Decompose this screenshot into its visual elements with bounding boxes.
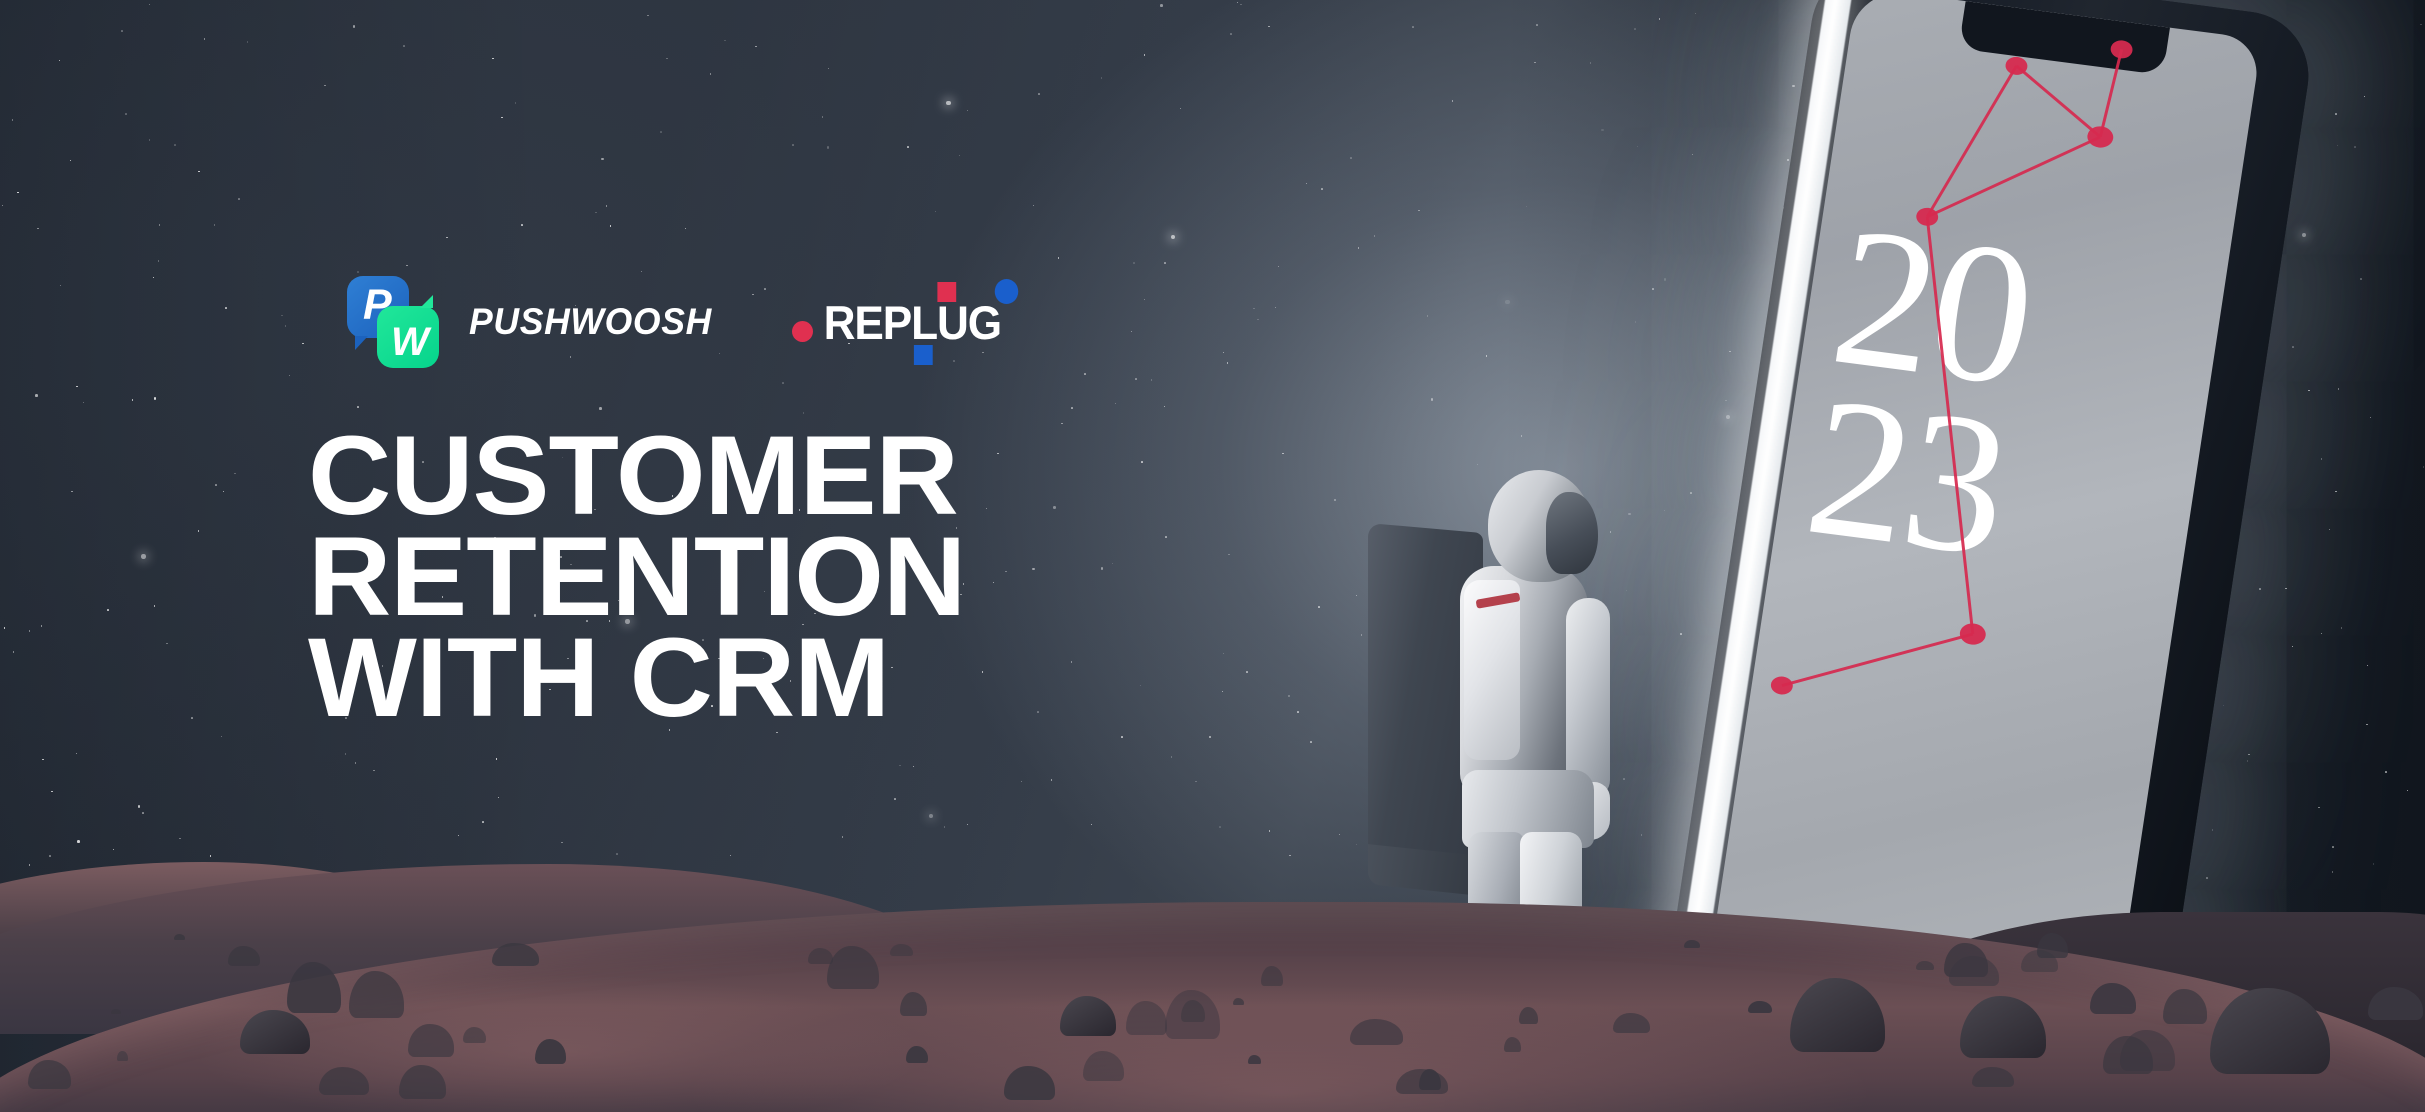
headline-line-2: RETENTION: [308, 527, 1194, 628]
logo-row: P W PUSHWOOSH REPLUG: [347, 276, 1007, 368]
astronaut-visor: [1546, 492, 1598, 574]
replug-wordmark-text: REPLUG: [824, 296, 1001, 349]
astronaut-arm: [1566, 598, 1610, 798]
page-title: CUSTOMER RETENTION WITH CRM: [308, 426, 1168, 728]
headline-line-1: CUSTOMER: [308, 426, 1194, 527]
bubble-letter-w: W: [391, 322, 429, 362]
headline-line-3: WITH CRM: [308, 628, 1194, 729]
pushwoosh-wordmark: PUSHWOOSH: [469, 301, 712, 343]
replug-blue-circle-icon: [995, 279, 1019, 304]
replug-dot-icon: [792, 321, 813, 342]
replug-red-square-icon: [937, 282, 956, 302]
replug-wordmark: REPLUG: [824, 295, 1001, 350]
astronaut-chest-pack: [1464, 580, 1520, 760]
replug-blue-square-icon: [914, 345, 933, 365]
hero-banner: 20 23 P W: [0, 0, 2425, 1112]
lunar-terrain: [0, 782, 2425, 1112]
pushwoosh-logo[interactable]: P W: [347, 276, 439, 368]
replug-logo[interactable]: REPLUG: [792, 295, 1007, 350]
